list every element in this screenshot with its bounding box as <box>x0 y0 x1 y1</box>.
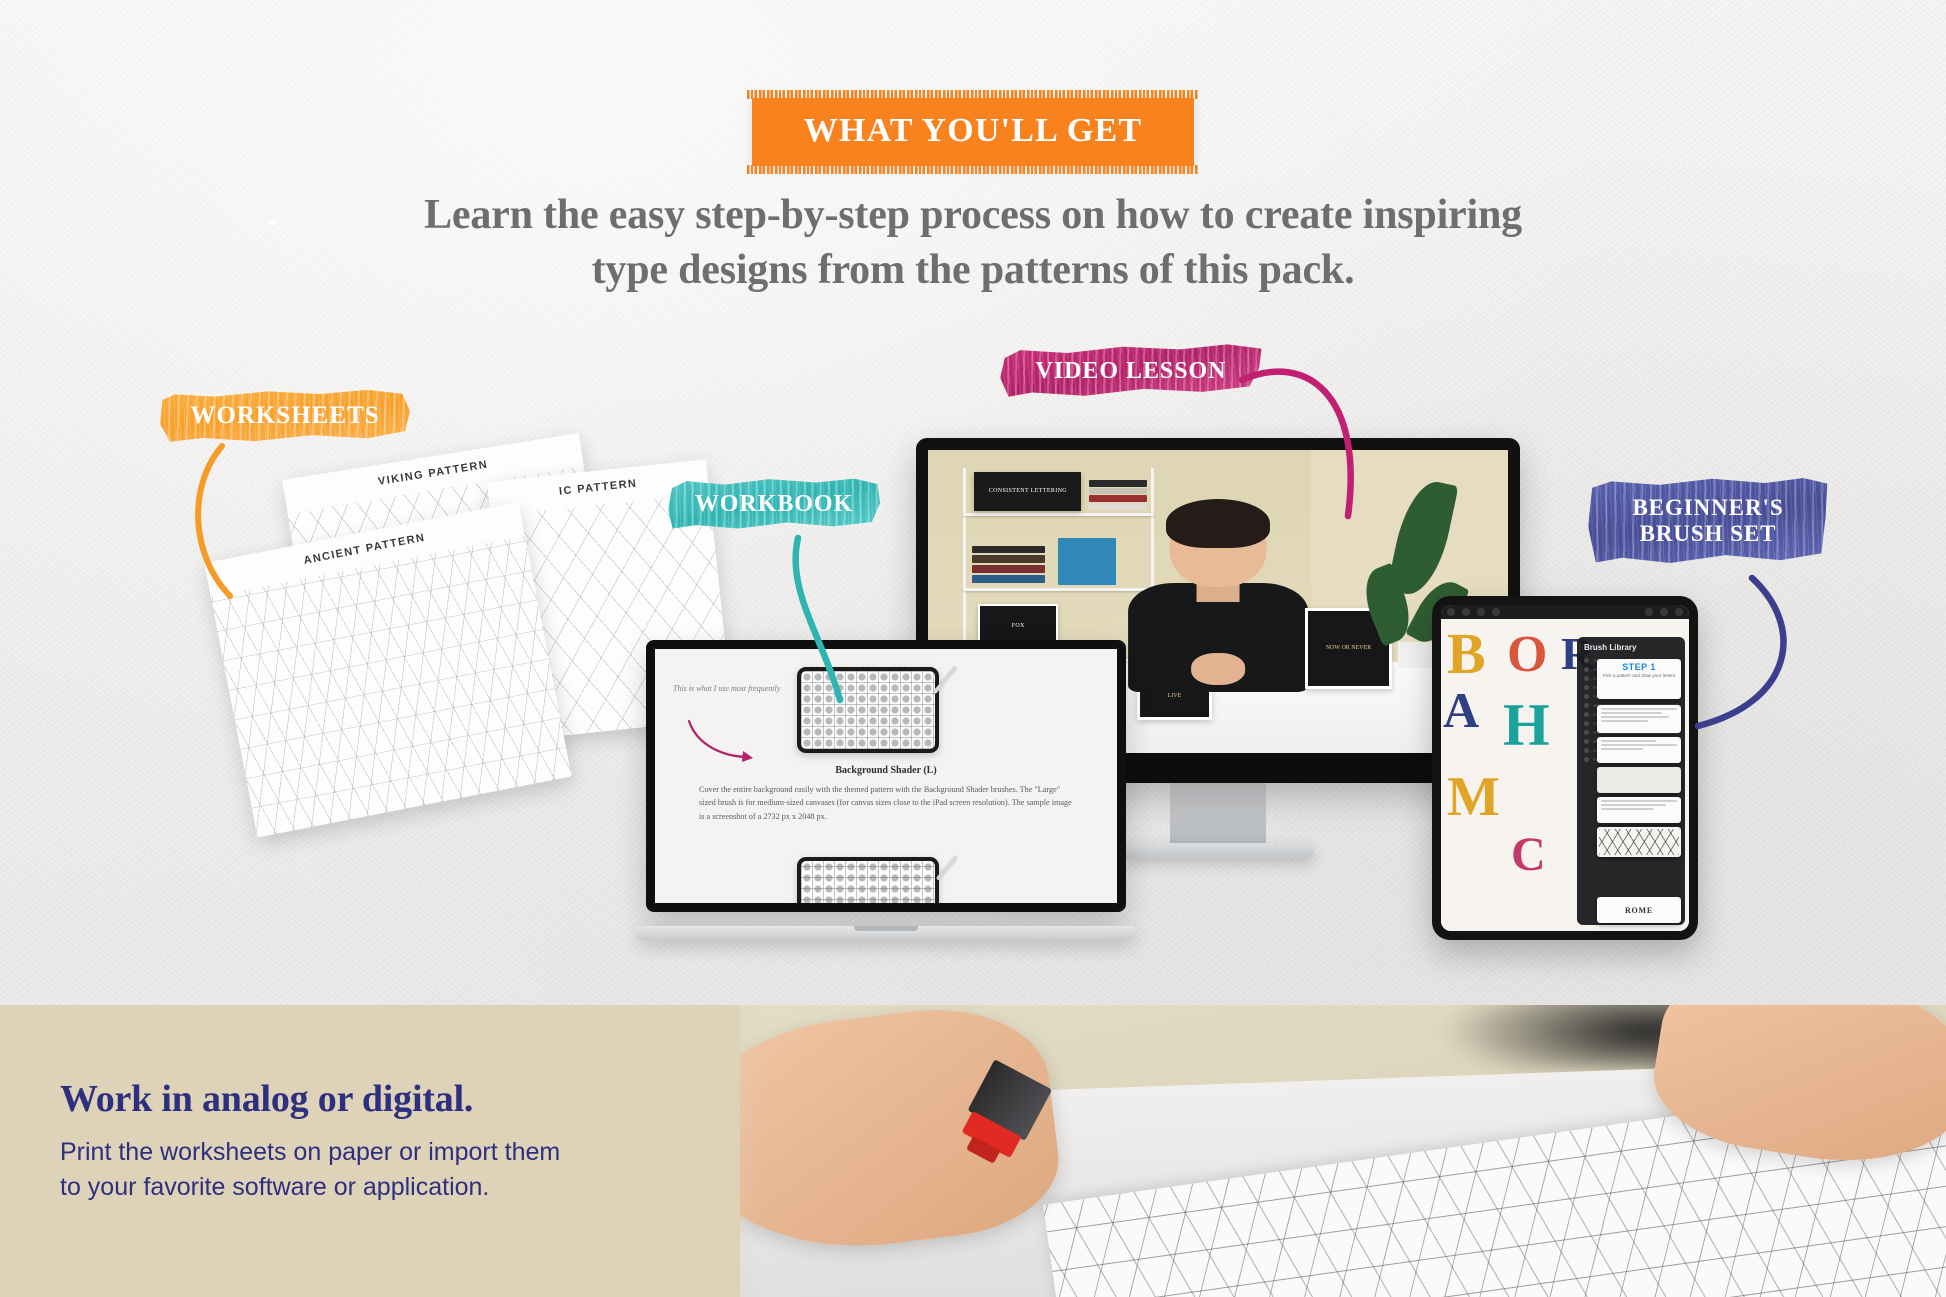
badge-video-lesson: VIDEO LESSON <box>1000 345 1262 397</box>
workbook-body-text: Cover the entire background easily with … <box>699 783 1073 823</box>
bottom-body: Print the worksheets on paper or import … <box>60 1135 560 1204</box>
laptop-notch <box>854 926 918 931</box>
workbook-section-title: Background Shader (L) <box>655 765 1117 776</box>
laptop-base <box>636 926 1136 940</box>
headline-line-1: Learn the easy step-by-step process on h… <box>0 188 1946 243</box>
badge-video-lesson-label: VIDEO LESSON <box>1028 358 1235 385</box>
arrow-brush-set <box>1640 562 1830 762</box>
arrow-video-lesson <box>1236 358 1426 548</box>
badge-brush-set-line-2: BRUSH SET <box>1640 521 1777 546</box>
eraser-tool-icon[interactable] <box>1477 608 1485 616</box>
footer-word: ROME <box>1625 906 1653 915</box>
what-youll-get-banner: WHAT YOU'LL GET <box>752 98 1194 166</box>
canvas-glyph-o: O <box>1507 629 1547 681</box>
bottom-heading: Work in analog or digital. <box>60 1077 473 1121</box>
monitor-stand <box>1170 783 1266 845</box>
badge-worksheets: WORKSHEETS <box>160 390 410 442</box>
step-card-lines-3 <box>1597 797 1681 823</box>
arrow-worksheets <box>178 438 298 608</box>
page-headline: Learn the easy step-by-step process on h… <box>0 188 1946 299</box>
bottom-body-line-1: Print the worksheets on paper or import … <box>60 1135 560 1170</box>
canvas-glyph-m: M <box>1447 769 1500 825</box>
banner-label: WHAT YOU'LL GET <box>804 112 1142 149</box>
headline-line-2: type designs from the patterns of this p… <box>0 243 1946 298</box>
monitor-foot <box>1123 843 1313 859</box>
step-card-swatches <box>1597 767 1681 793</box>
canvas-glyph-a: A <box>1443 685 1479 735</box>
promo-page: WHAT YOU'LL GET Learn the easy step-by-s… <box>0 0 1946 1297</box>
canvas-glyph-h: H <box>1503 695 1550 755</box>
workbook-stylus-bottom <box>936 855 958 881</box>
banner-wrapper: WHAT YOU'LL GET <box>0 98 1946 166</box>
book-cover-consistent-lettering: CONSISTENT LETTERING <box>974 472 1081 511</box>
step-card-diagram <box>1597 827 1681 857</box>
canvas-glyph-b: B <box>1447 625 1486 683</box>
badge-brush-set: BEGINNER'S BRUSH SET <box>1588 478 1828 564</box>
instructor-hands <box>1191 653 1245 685</box>
badge-workbook: WORKBOOK <box>668 478 880 530</box>
badge-worksheets-label: WORKSHEETS <box>182 402 387 430</box>
workbook-device-bottom <box>797 857 939 903</box>
badge-brush-set-line-1: BEGINNER'S <box>1632 495 1783 520</box>
brush-tool-icon[interactable] <box>1447 608 1455 616</box>
scene-shelf: CONSISTENT LETTERING FOX <box>963 468 1154 662</box>
badge-brush-set-label: BEGINNER'S BRUSH SET <box>1624 495 1791 547</box>
bottom-photo <box>740 1005 1946 1297</box>
layers-tool-icon[interactable] <box>1492 608 1500 616</box>
badge-workbook-label: WORKBOOK <box>687 491 861 518</box>
arrow-workbook <box>762 528 892 708</box>
step-card-footer: ROME <box>1597 897 1681 923</box>
workbook-note-arrow <box>683 719 763 763</box>
smudge-tool-icon[interactable] <box>1462 608 1470 616</box>
canvas-glyph-c: C <box>1511 831 1546 879</box>
bottom-body-line-2: to your favorite software or application… <box>60 1170 560 1205</box>
